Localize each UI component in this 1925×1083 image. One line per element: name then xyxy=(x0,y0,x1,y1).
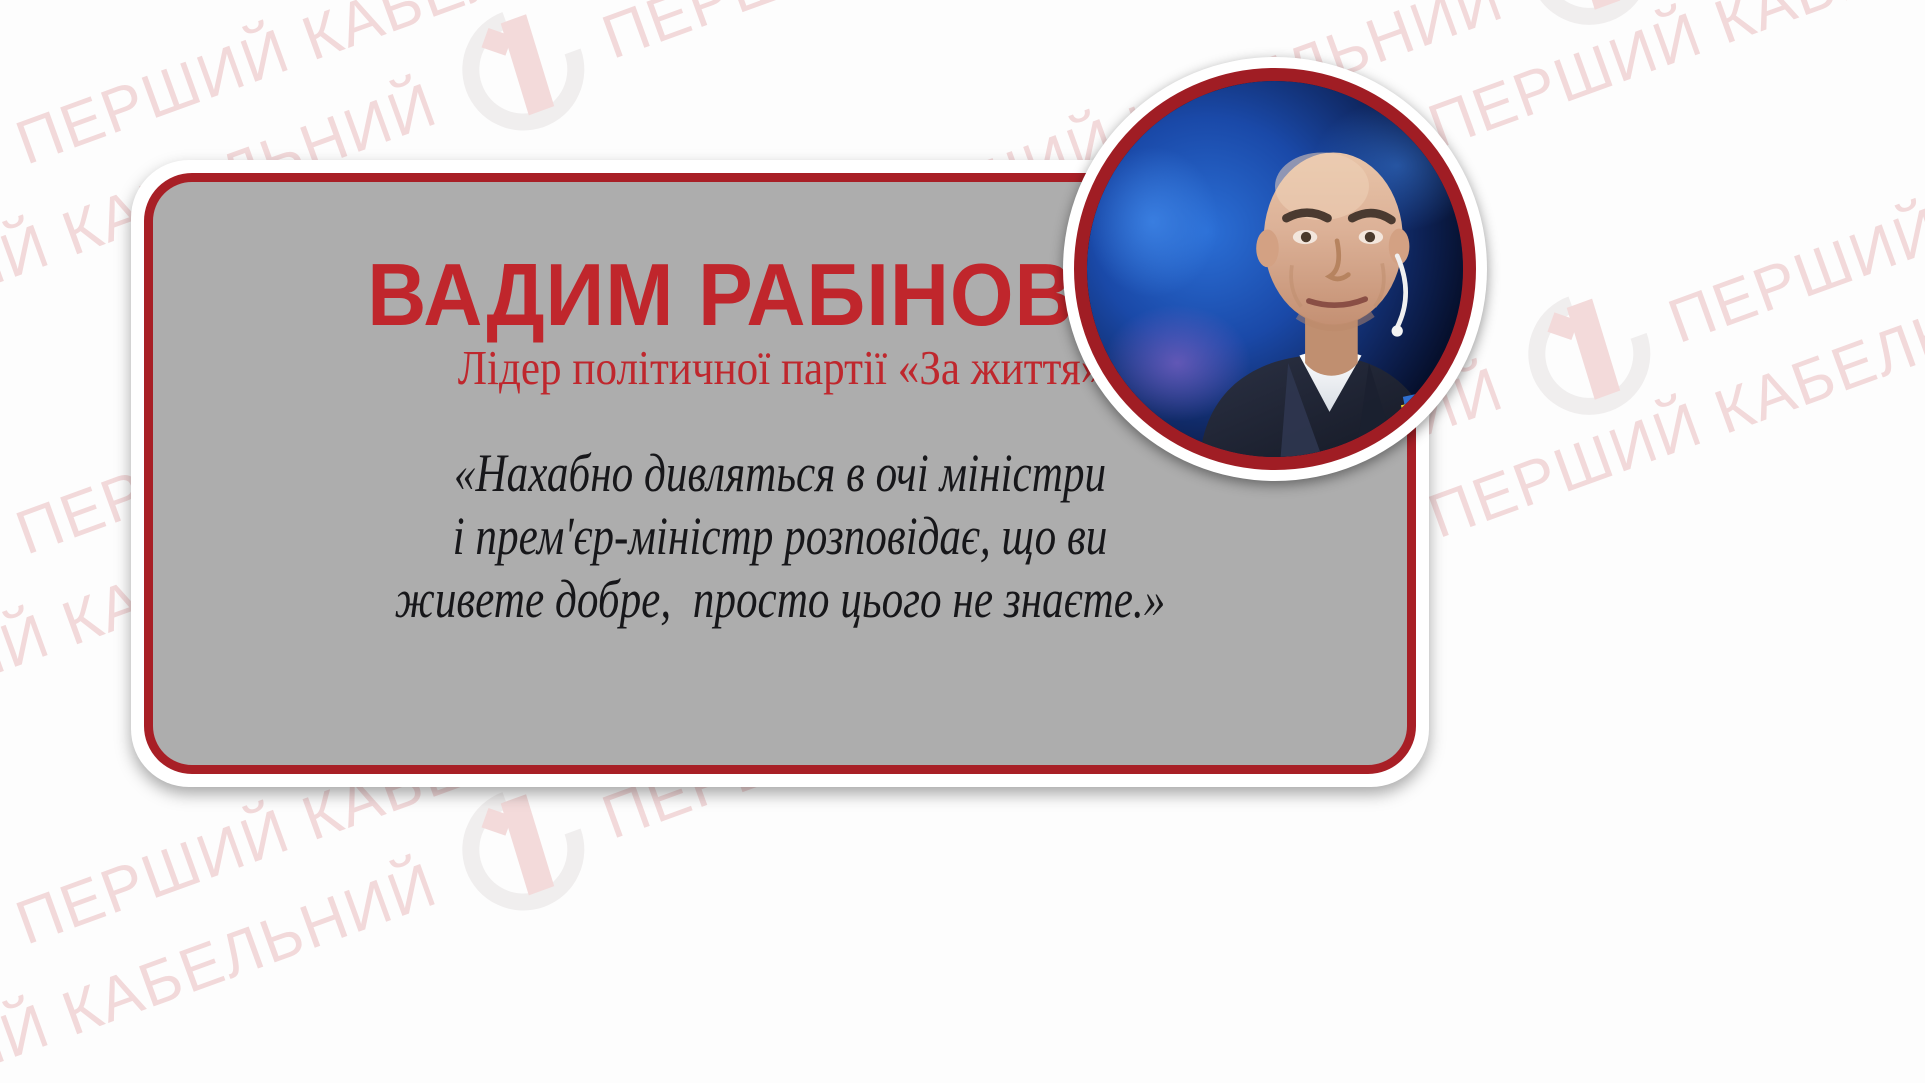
watermark-text: ПЕРШИЙ КАБЕЛЬНИЙ xyxy=(0,849,446,1083)
logo-digit-one xyxy=(1567,0,1620,10)
watermark-text: ПЕРШИЙ КАБЕЛЬНИЙ xyxy=(7,0,686,179)
channel-one-logo-icon xyxy=(0,97,16,253)
channel-one-logo-icon xyxy=(445,771,601,927)
watermark-unit: ПЕРШИЙ КАБЕЛЬНИЙ xyxy=(0,825,455,1083)
watermark-unit: ПЕРШИЙ КАБЕЛЬНИЙ xyxy=(1512,0,1925,42)
logo-ring xyxy=(442,0,604,150)
watermark-text: ПЕРШИЙ КАБЕЛЬНИЙ xyxy=(1419,0,1925,162)
watermark-unit: ПЕРШИЙ КАБЕЛЬНИЙ xyxy=(0,0,455,58)
quote-line-1: «Нахабно дивляться в очі міністри xyxy=(310,442,1249,505)
logo-ring xyxy=(1509,0,1671,45)
portrait-photo xyxy=(1087,81,1463,457)
logo-digit-one xyxy=(1567,298,1620,399)
logo-ring xyxy=(0,874,18,1036)
channel-one-logo-icon xyxy=(0,877,16,1033)
logo-digit-one xyxy=(501,14,554,115)
watermark-unit: ПЕРШИЙ КАБЕЛЬНИЙ xyxy=(1512,28,1925,432)
watermark-row: ПЕРШИЙ КАБЕЛЬНИЙПЕРШИЙ КАБЕЛЬНИЙПЕРШИЙ К… xyxy=(0,0,1925,58)
broadcast-quote-card-screen: ПЕРШИЙ КАБЕЛЬНИЙПЕРШИЙ КАБЕЛЬНИЙПЕРШИЙ К… xyxy=(0,0,1925,1083)
logo-ring xyxy=(0,94,18,256)
watermark-text: ПЕРШИЙ КАБЕЛЬНИЙ xyxy=(1419,247,1925,552)
quote-line-2: і прем'єр-міністр розповідає, що ви xyxy=(310,505,1249,568)
logo-ring xyxy=(1509,273,1671,435)
quote-line-3: живете добре, просто цього не знаєте.» xyxy=(310,568,1249,631)
channel-one-logo-icon xyxy=(1512,276,1668,432)
watermark-text: ПЕРШИЙ КАБЕЛЬНИЙ xyxy=(1659,52,1925,357)
portrait-ring xyxy=(1074,68,1476,470)
quote-block: «Нахабно дивляться в очі міністри і прем… xyxy=(193,442,1367,632)
portrait-avatar xyxy=(1063,57,1487,481)
logo-ring xyxy=(0,484,18,646)
logo-ring xyxy=(442,768,604,930)
channel-one-logo-icon xyxy=(0,487,16,643)
channel-one-logo-icon xyxy=(445,0,601,148)
channel-one-logo-icon xyxy=(1512,0,1668,42)
logo-digit-one xyxy=(501,794,554,895)
watermark-text: ПЕРШИЙ КАБЕЛЬНИЙ xyxy=(593,0,1272,73)
